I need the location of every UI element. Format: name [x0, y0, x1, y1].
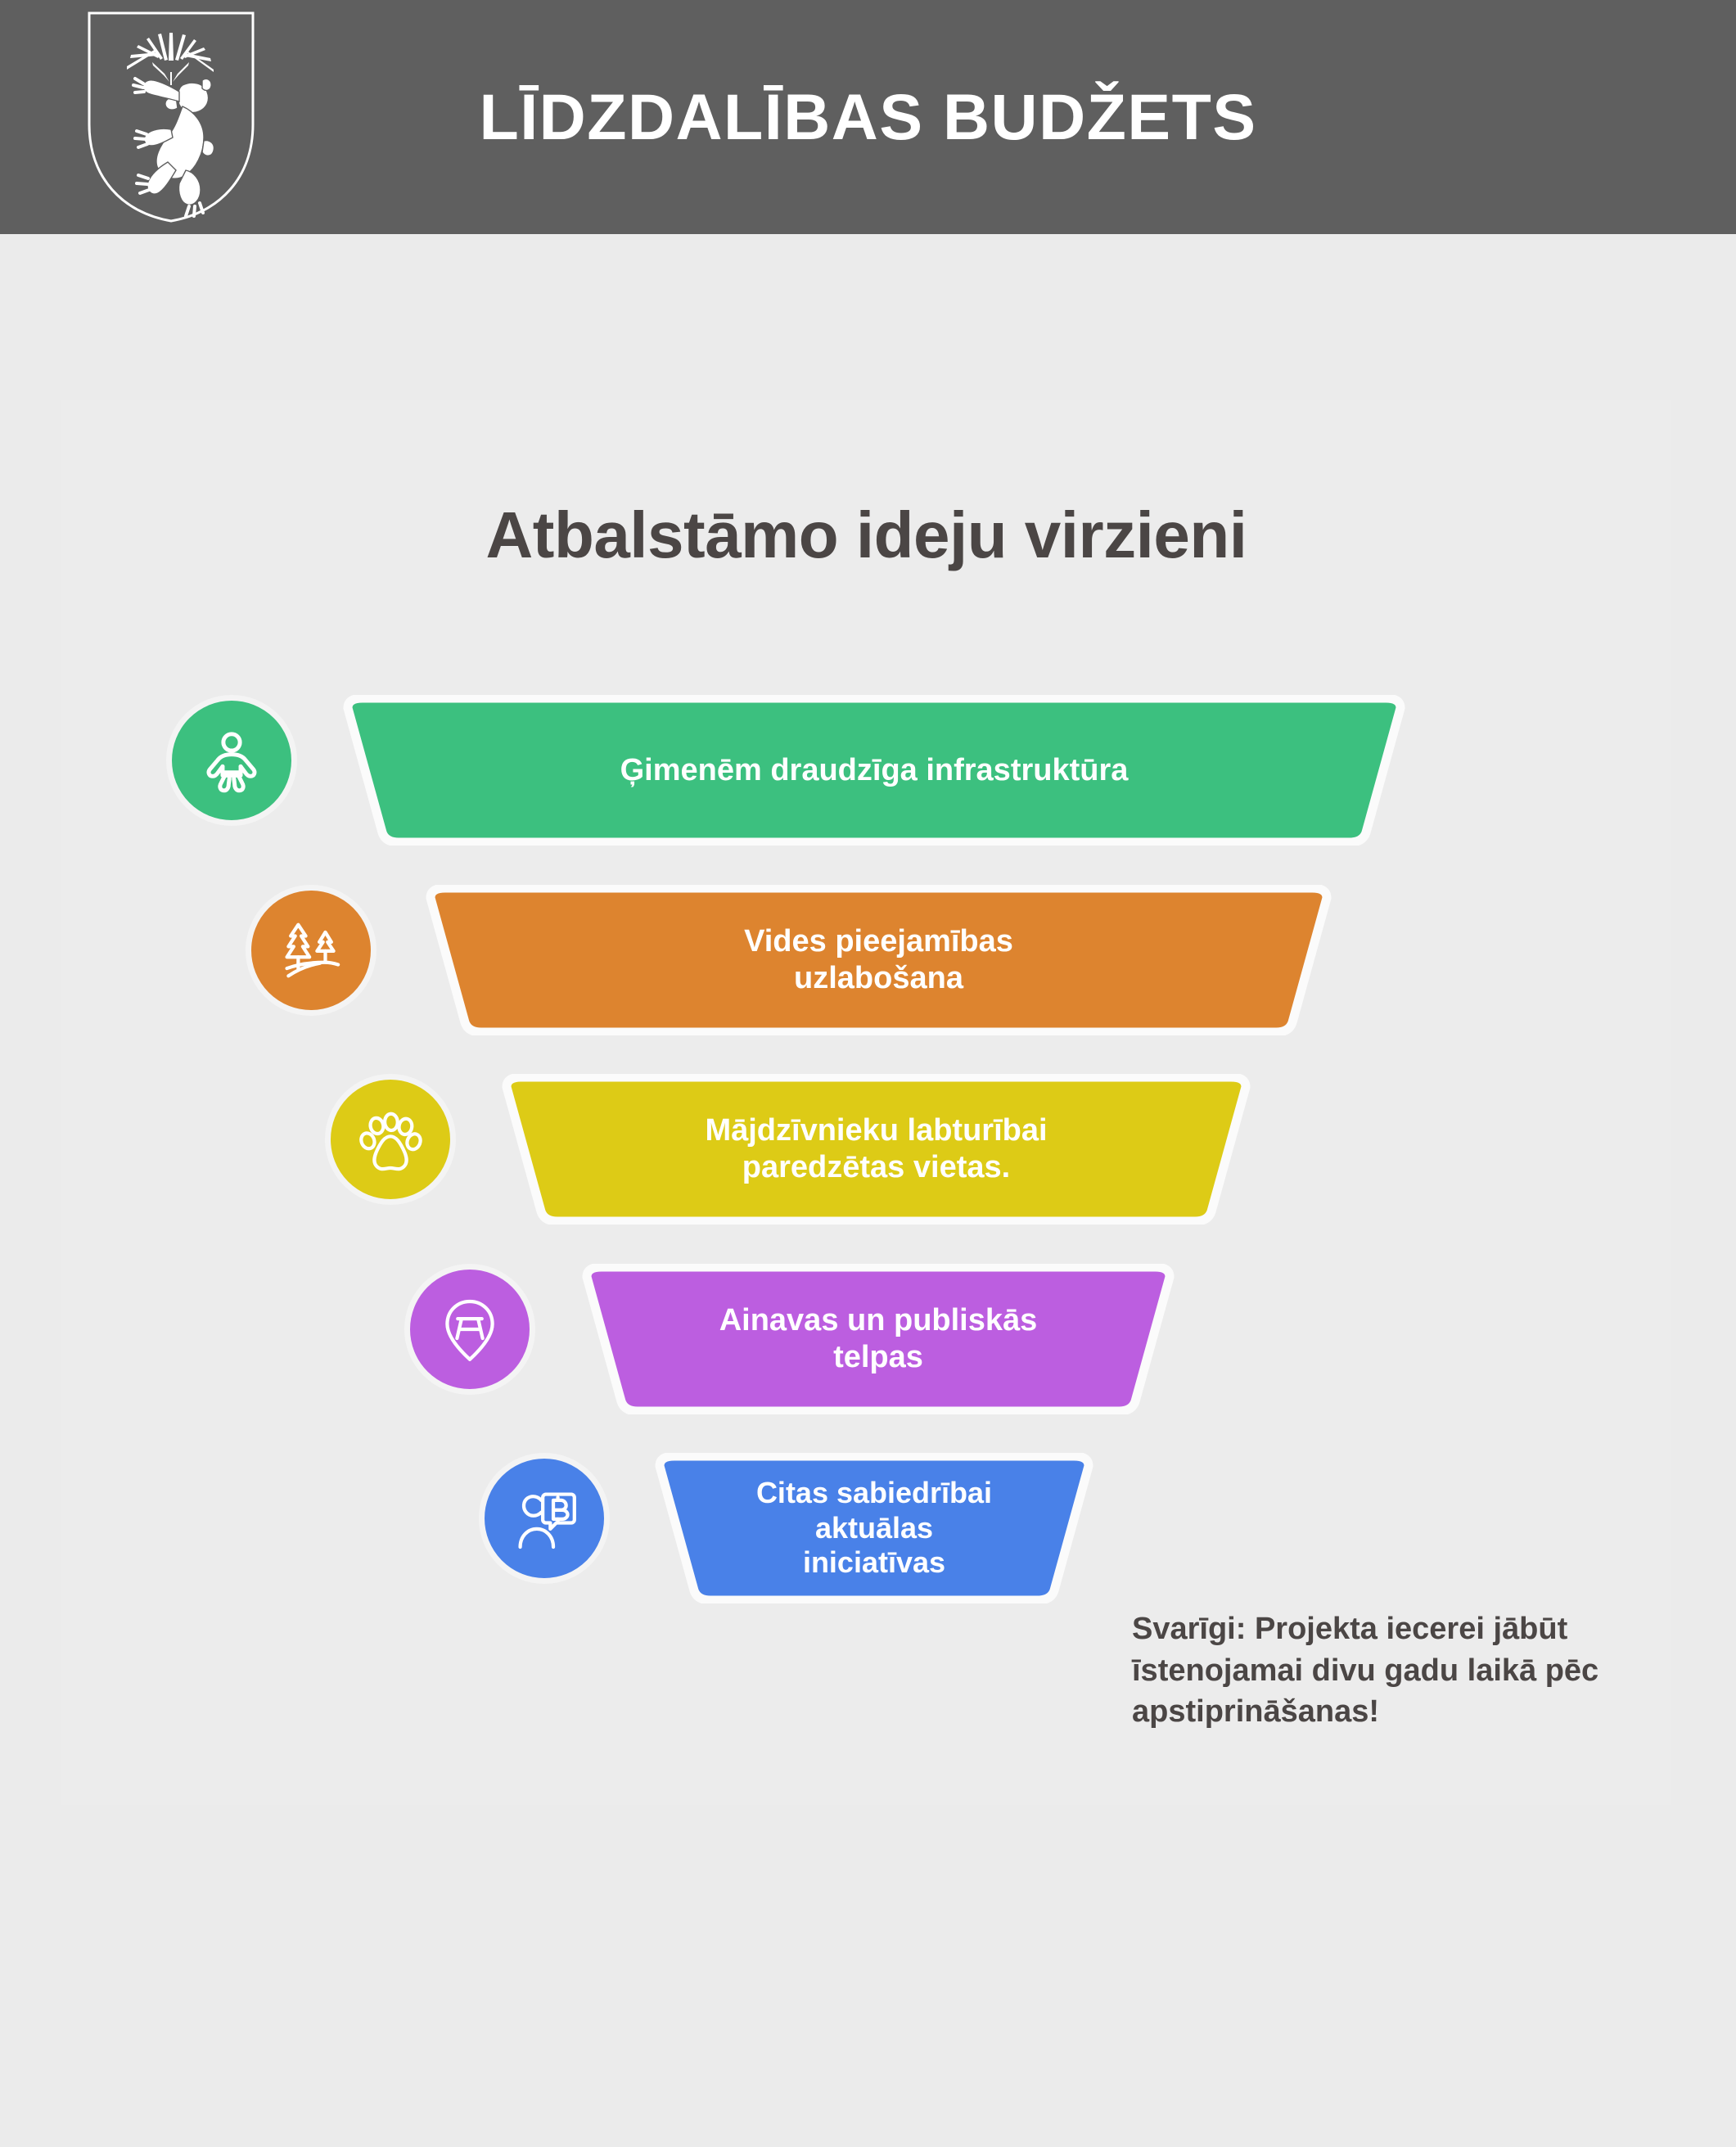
funnel-label-5: Citas sabiedrībai aktuālas iniciatīvas	[647, 1453, 1102, 1603]
funnel-band-1[interactable]: Ģimenēm draudzīga infrastruktūra	[335, 695, 1414, 846]
trees-park-icon	[246, 885, 377, 1016]
funnel-band-5[interactable]: Citas sabiedrībai aktuālas iniciatīvas	[647, 1453, 1102, 1603]
important-note: Svarīgi: Projekta iecerei jābūt īstenoja…	[1132, 1608, 1713, 1733]
funnel-band-2[interactable]: Vides pieejamības uzlabošana	[417, 885, 1340, 1035]
infographic-page: LĪDZDALĪBAS BUDŽETS Atbalstāmo ideju vir…	[0, 0, 1736, 2147]
paw-print-icon	[325, 1074, 456, 1205]
baby-icon	[166, 695, 297, 826]
page-header-title: LĪDZDALĪBAS BUDŽETS	[0, 0, 1736, 234]
funnel-band-4[interactable]: Ainavas un publiskās telpas	[574, 1264, 1183, 1414]
page-header: LĪDZDALĪBAS BUDŽETS	[0, 0, 1736, 234]
funnel-label-4: Ainavas un publiskās telpas	[574, 1264, 1183, 1414]
page-title: Atbalstāmo ideju virzieni	[61, 498, 1671, 573]
funnel-label-2: Vides pieejamības uzlabošana	[417, 885, 1340, 1035]
funnel-band-3[interactable]: Mājdzīvnieku labturībai paredzētas vieta…	[494, 1074, 1259, 1225]
map-pin-picnic-icon	[404, 1264, 535, 1395]
funnel-label-1: Ģimenēm draudzīga infrastruktūra	[335, 695, 1414, 846]
funnel-label-3: Mājdzīvnieku labturībai paredzētas vieta…	[494, 1074, 1259, 1225]
person-speech-currency-icon	[479, 1453, 610, 1584]
